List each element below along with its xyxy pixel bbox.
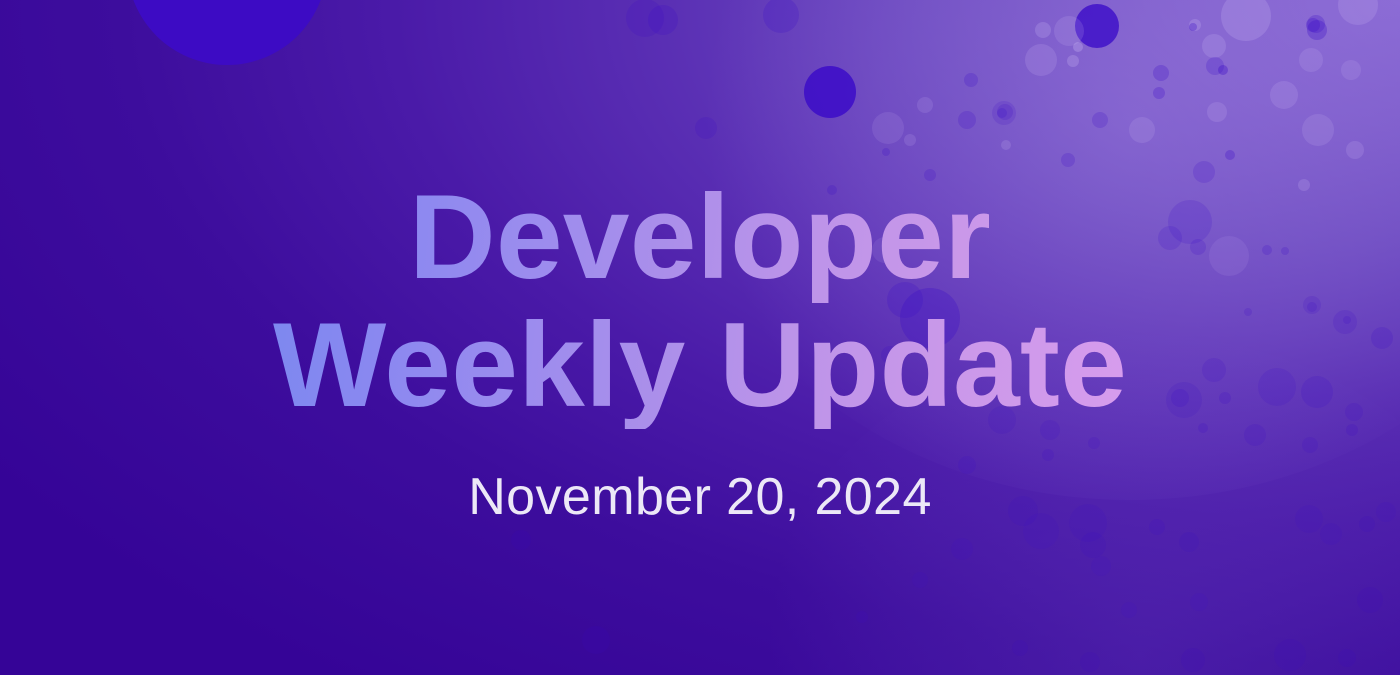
page-title: Developer Weekly Update: [273, 174, 1127, 428]
developer-weekly-banner: Developer Weekly Update November 20, 202…: [0, 0, 1400, 675]
banner-content: Developer Weekly Update November 20, 202…: [0, 0, 1400, 675]
issue-date: November 20, 2024: [468, 467, 932, 527]
